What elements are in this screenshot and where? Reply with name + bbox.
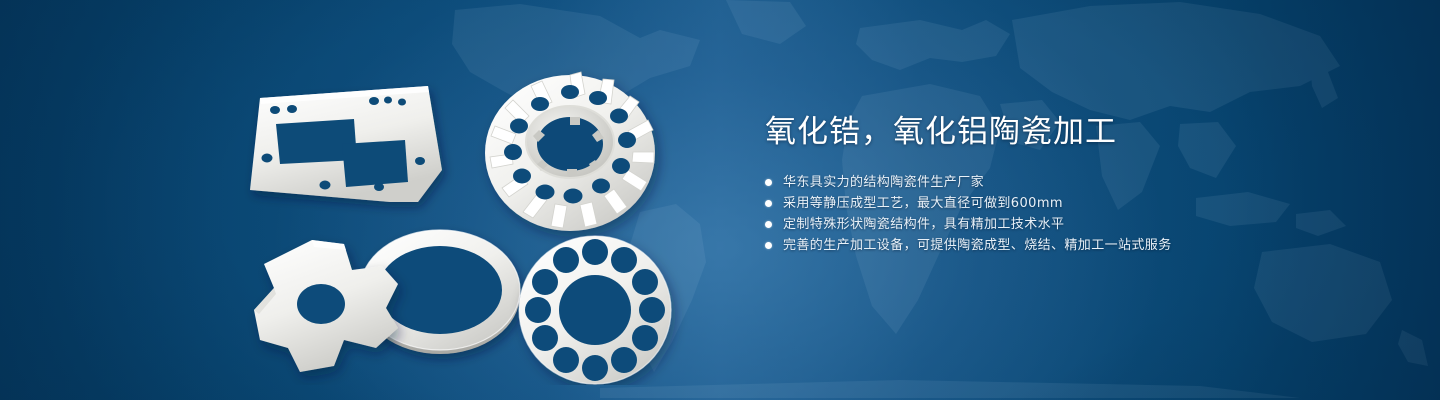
hero-banner: 氧化锆，氧化铝陶瓷加工 华东具实力的结构陶瓷件生产厂家 采用等静压成型工艺，最大… [0, 0, 1440, 400]
banner-copy: 氧化锆，氧化铝陶瓷加工 华东具实力的结构陶瓷件生产厂家 采用等静压成型工艺，最大… [765, 112, 1365, 256]
ceramic-hole-ring-plate-shape [519, 236, 671, 384]
bullet-dot-icon [765, 179, 772, 186]
list-item-label: 采用等静压成型工艺，最大直径可做到600mm [783, 193, 1063, 214]
feature-list: 华东具实力的结构陶瓷件生产厂家 采用等静压成型工艺，最大直径可做到600mm 定… [765, 172, 1365, 256]
ceramic-impeller-shape [485, 72, 655, 231]
list-item-label: 华东具实力的结构陶瓷件生产厂家 [783, 172, 984, 193]
page-title: 氧化锆，氧化铝陶瓷加工 [765, 112, 1365, 152]
list-item: 完善的生产加工设备，可提供陶瓷成型、烧结、精加工一站式服务 [765, 235, 1365, 256]
bullet-dot-icon [765, 242, 772, 249]
list-item: 采用等静压成型工艺，最大直径可做到600mm [765, 193, 1365, 214]
list-item: 定制特殊形状陶瓷结构件，具有精加工技术水平 [765, 214, 1365, 235]
bullet-dot-icon [765, 221, 772, 228]
ceramic-products-photo [230, 40, 710, 385]
ceramic-plate-shape [250, 86, 442, 202]
list-item-label: 定制特殊形状陶瓷结构件，具有精加工技术水平 [783, 214, 1064, 235]
list-item: 华东具实力的结构陶瓷件生产厂家 [765, 172, 1365, 193]
bullet-dot-icon [765, 200, 772, 207]
list-item-label: 完善的生产加工设备，可提供陶瓷成型、烧结、精加工一站式服务 [783, 235, 1172, 256]
